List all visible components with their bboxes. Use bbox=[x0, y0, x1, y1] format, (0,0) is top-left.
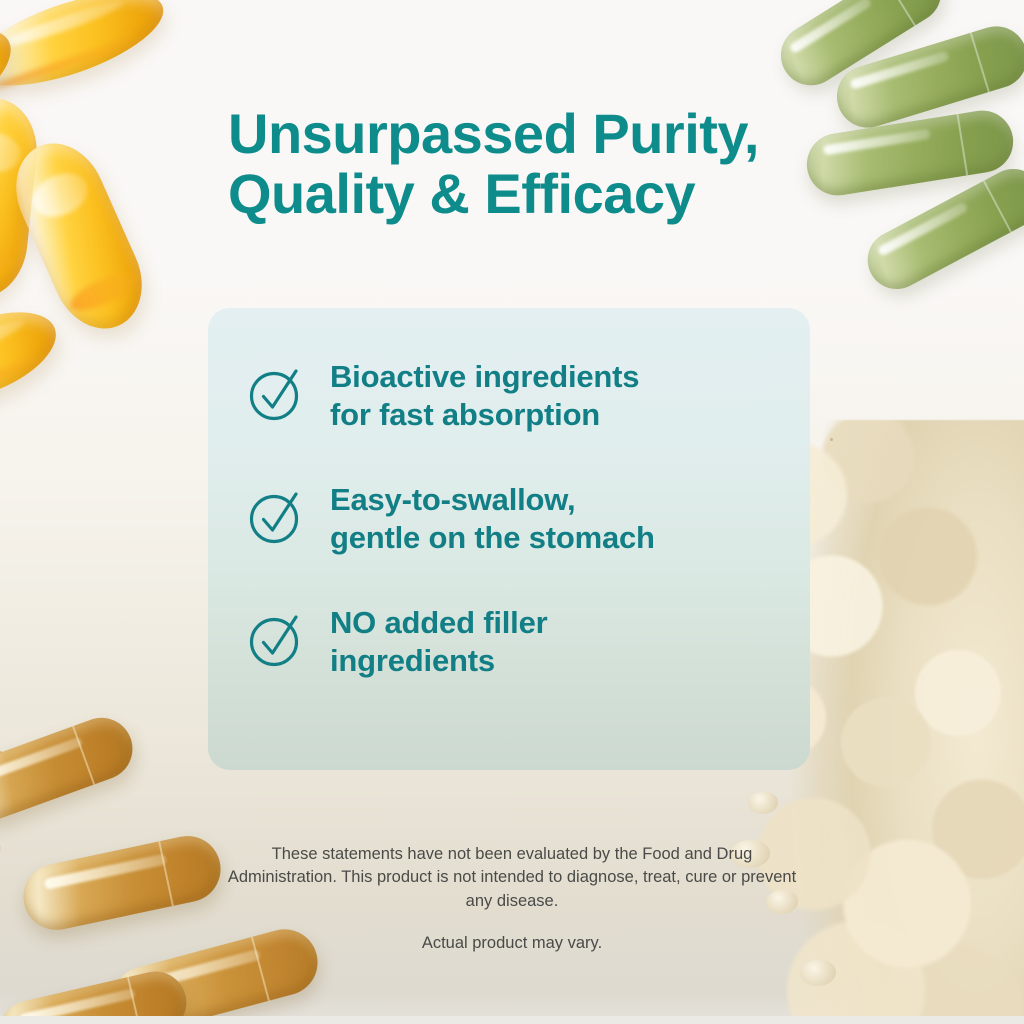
benefit-text-line-2: for fast absorption bbox=[330, 396, 639, 434]
benefit-text-line-2: ingredients bbox=[330, 642, 547, 680]
marketing-image-canvas: Unsurpassed Purity, Quality & Efficacy B… bbox=[0, 0, 1024, 1024]
powder-grain bbox=[800, 960, 836, 986]
benefit-item: NO added filler ingredients bbox=[246, 604, 792, 681]
check-circle-icon bbox=[246, 362, 308, 424]
green-capsule bbox=[770, 0, 953, 97]
turmeric-powder-speck bbox=[0, 750, 10, 774]
softgel-capsule bbox=[0, 14, 25, 133]
check-circle-icon bbox=[246, 485, 308, 547]
benefit-text-line-1: Easy-to-swallow, bbox=[330, 481, 655, 519]
benefit-text: Easy-to-swallow, gentle on the stomach bbox=[330, 481, 655, 558]
powder-dust-speck bbox=[830, 438, 833, 441]
benefit-text-line-1: Bioactive ingredients bbox=[330, 358, 639, 396]
benefits-card: Bioactive ingredients for fast absorptio… bbox=[208, 308, 810, 770]
page-title-line-1: Unsurpassed Purity, bbox=[228, 104, 828, 164]
powder-grain bbox=[748, 792, 778, 814]
benefit-text-line-1: NO added filler bbox=[330, 604, 547, 642]
benefit-item: Easy-to-swallow, gentle on the stomach bbox=[246, 481, 792, 558]
bottom-edge-strip bbox=[0, 1016, 1024, 1024]
page-title-line-2: Quality & Efficacy bbox=[228, 164, 828, 224]
softgel-capsule bbox=[0, 94, 42, 302]
fda-disclaimer: These statements have not been evaluated… bbox=[216, 843, 808, 913]
benefit-text: Bioactive ingredients for fast absorptio… bbox=[330, 358, 639, 435]
product-variance-disclaimer: Actual product may vary. bbox=[216, 932, 808, 955]
check-circle-icon bbox=[246, 608, 308, 670]
green-capsule bbox=[858, 159, 1024, 299]
green-capsule bbox=[802, 106, 1017, 200]
page-title: Unsurpassed Purity, Quality & Efficacy bbox=[228, 104, 828, 225]
softgel-capsule bbox=[0, 129, 158, 343]
softgel-capsule bbox=[0, 0, 174, 105]
benefit-text-line-2: gentle on the stomach bbox=[330, 519, 655, 557]
softgel-capsule bbox=[0, 295, 68, 418]
turmeric-capsule bbox=[0, 709, 141, 829]
benefits-list: Bioactive ingredients for fast absorptio… bbox=[246, 358, 792, 681]
turmeric-capsule bbox=[17, 830, 226, 936]
benefit-text: NO added filler ingredients bbox=[330, 604, 547, 681]
green-capsule bbox=[829, 19, 1024, 136]
benefit-item: Bioactive ingredients for fast absorptio… bbox=[246, 358, 792, 435]
